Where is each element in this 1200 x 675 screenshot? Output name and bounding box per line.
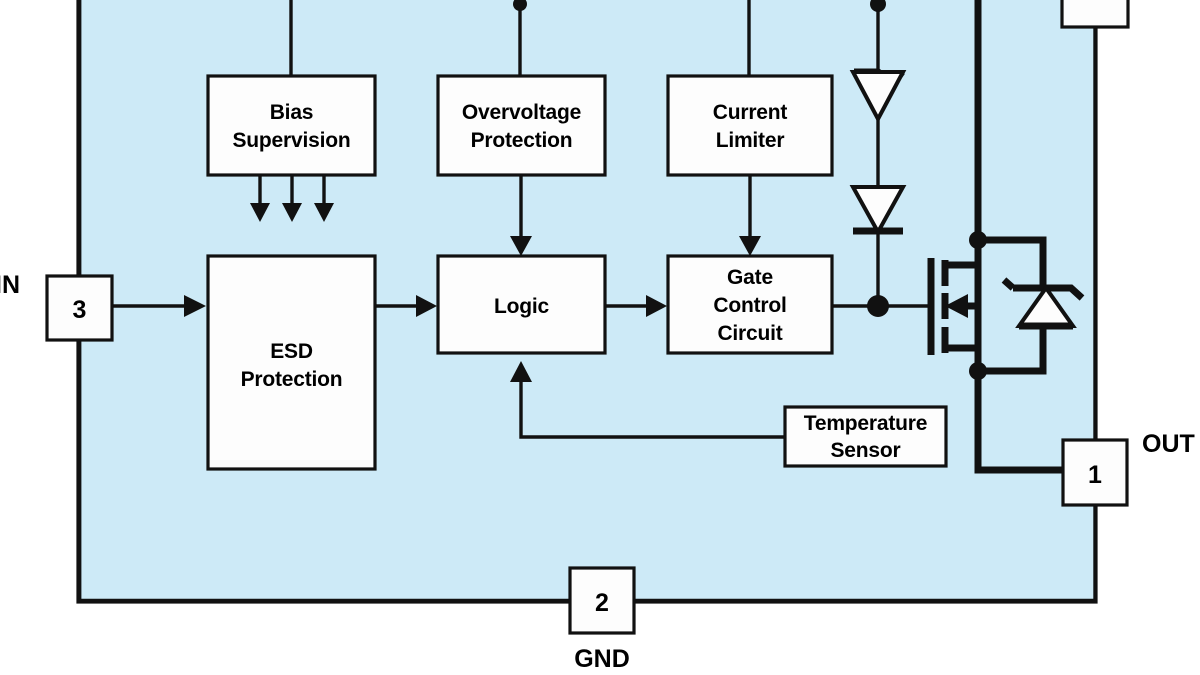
block-temperature-sensor-line2: Sensor <box>831 439 901 462</box>
junction-dot-gate-node <box>867 295 889 317</box>
block-logic-line1: Logic <box>494 295 550 318</box>
block-current-limiter-line1: Current <box>713 101 788 124</box>
block-gate-control-circuit-line1: Gate <box>727 266 773 289</box>
pin-in[interactable]: 3 <box>47 276 112 340</box>
block-logic[interactable]: Logic <box>438 256 605 353</box>
port-label-gnd: GND <box>574 645 630 673</box>
pin-gnd[interactable]: 2 <box>570 568 634 633</box>
block-diagram-canvas: Bias Supervision Overvoltage Protection … <box>0 0 1200 675</box>
block-gate-control-circuit-line2: Control <box>713 294 786 317</box>
pin-out[interactable]: 1 <box>1063 440 1127 505</box>
block-temperature-sensor-line1: Temperature <box>804 412 927 435</box>
block-current-limiter-line2: Limiter <box>716 129 785 152</box>
pin-gnd-number: 2 <box>595 589 609 617</box>
block-gate-control-circuit[interactable]: Gate Control Circuit <box>668 256 832 353</box>
block-esd-protection-line1: ESD <box>270 340 313 363</box>
block-gate-control-circuit-line3: Circuit <box>717 322 782 345</box>
block-overvoltage-protection-line2: Protection <box>471 129 573 152</box>
block-bias-supervision-box <box>208 76 375 175</box>
block-overvoltage-protection[interactable]: Overvoltage Protection <box>438 76 605 175</box>
block-bias-supervision-line1: Bias <box>270 101 314 124</box>
block-current-limiter-box <box>668 76 832 175</box>
block-current-limiter[interactable]: Current Limiter <box>668 76 832 175</box>
block-esd-protection-line2: Protection <box>241 368 343 391</box>
pin-top-partial[interactable] <box>1062 0 1128 27</box>
block-overvoltage-protection-box <box>438 76 605 175</box>
block-bias-supervision-line2: Supervision <box>233 129 351 152</box>
block-esd-protection[interactable]: ESD Protection <box>208 256 375 469</box>
port-label-out: OUT <box>1142 430 1195 458</box>
port-label-in: IN <box>0 271 20 299</box>
diagram-svg: Bias Supervision Overvoltage Protection … <box>0 0 1200 675</box>
pin-out-number: 1 <box>1088 461 1102 489</box>
pin-in-number: 3 <box>73 296 87 324</box>
pin-top-box <box>1062 0 1128 27</box>
block-temperature-sensor[interactable]: Temperature Sensor <box>785 407 946 466</box>
block-overvoltage-protection-line1: Overvoltage <box>462 101 581 124</box>
block-bias-supervision[interactable]: Bias Supervision <box>208 76 375 175</box>
